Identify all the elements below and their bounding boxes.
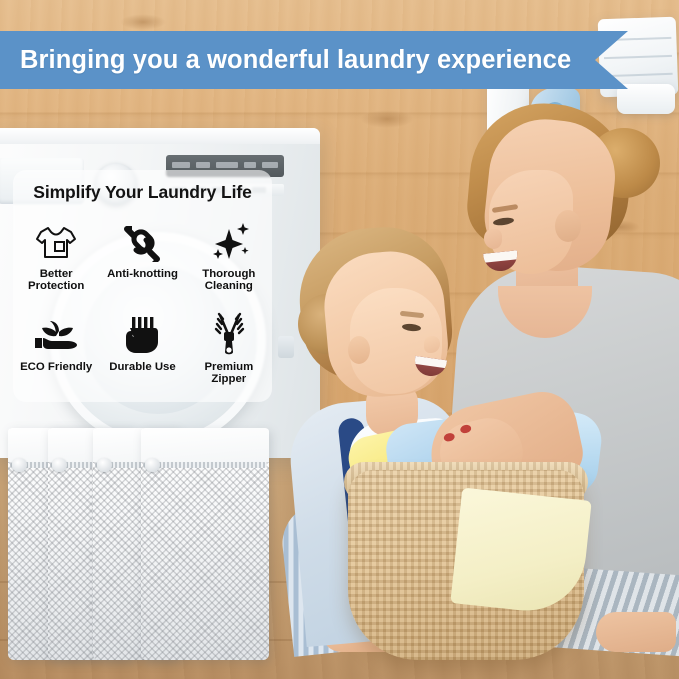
feature-label: Anti-knotting [107, 268, 178, 280]
wood-knot [360, 110, 414, 128]
bag-zipper [143, 462, 267, 468]
feature-label: BetterProtection [28, 268, 84, 293]
fingernail [459, 424, 472, 434]
tshirt-icon [34, 218, 78, 266]
washer-door-latch [278, 336, 294, 358]
hand-plant-icon [32, 311, 80, 359]
bag-zipper-pull [145, 458, 160, 472]
feature-label: ThoroughCleaning [202, 268, 255, 293]
feature-panel: Simplify Your Laundry Life BetterProtect… [13, 170, 272, 402]
child-ear [348, 336, 370, 364]
bag-zipper-pull [12, 458, 27, 472]
wood-knot [120, 14, 166, 30]
fingernail [443, 432, 456, 442]
feature-label: ECO Friendly [20, 361, 92, 373]
feature-eco-friendly: ECO Friendly [13, 307, 99, 400]
laundry-bag [141, 428, 269, 660]
feature-premium-zipper: PremiumZipper [186, 307, 272, 400]
bag-zipper-pull [97, 458, 112, 472]
feature-label: Durable Use [109, 361, 175, 373]
bag-zipper-pull [52, 458, 67, 472]
product-image: Bringing you a wonderful laundry experie… [0, 0, 679, 679]
headline-text: Bringing you a wonderful laundry experie… [0, 46, 571, 75]
feature-label: PremiumZipper [204, 361, 253, 386]
feature-thorough-cleaning: ThoroughCleaning [186, 214, 272, 307]
mother-nose [484, 229, 502, 249]
washer-top [0, 128, 320, 144]
bag-flap [141, 428, 269, 462]
laundry-bag-group [8, 428, 330, 664]
headline-banner: Bringing you a wonderful laundry experie… [0, 31, 628, 89]
strong-hand-icon [121, 311, 163, 359]
zipper-icon [207, 311, 251, 359]
mother-ear [555, 210, 581, 242]
mother-foot [596, 612, 676, 652]
panel-title: Simplify Your Laundry Life [13, 182, 272, 203]
feature-better-protection: BetterProtection [13, 214, 99, 307]
feature-durable-use: Durable Use [99, 307, 185, 400]
knot-icon [120, 218, 164, 266]
feature-anti-knotting: Anti-knotting [99, 214, 185, 307]
feature-grid: BetterProtection Anti-knotting [13, 214, 272, 400]
sparkle-icon [206, 218, 252, 266]
